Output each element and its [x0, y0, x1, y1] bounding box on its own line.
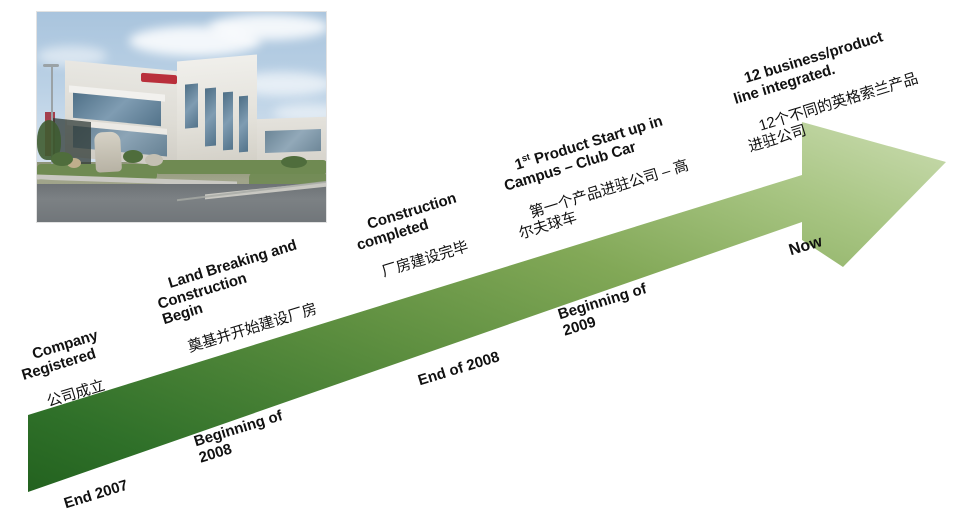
window-band [265, 129, 321, 153]
milestone-first-product-start-up: 1st Product Start up inCampus – Club Car… [492, 92, 701, 259]
milestone-land-breaking: Land Breaking andConstructionBegin 奠基并开始… [146, 221, 324, 377]
stone-sculpture [94, 131, 122, 172]
window-band [185, 83, 198, 128]
milestone-label-en: CompanyRegistered [20, 327, 100, 384]
window-band [223, 92, 233, 151]
bush-shape [123, 150, 143, 163]
milestone-label-cn: 厂房建设完毕 [380, 238, 470, 280]
milestone-construction-completed: Constructioncompleted 厂房建设完毕 [345, 174, 478, 302]
date-label-end-2007: End 2007 [62, 477, 130, 513]
slide-canvas: CompanyRegistered 公司成立 Land Breaking and… [0, 0, 960, 525]
cloud-shape [209, 14, 326, 40]
window-band [205, 88, 216, 147]
campus-photo [37, 12, 326, 222]
window-band [239, 96, 248, 153]
date-label-end-2008: End of 2008 [416, 348, 502, 389]
light-pole-arm [43, 64, 59, 67]
bush-shape [281, 156, 307, 168]
date-label-beginning-2009: Beginning of2009 [556, 280, 654, 340]
milestone-label-cn: 公司成立 [45, 377, 107, 411]
milestone-business-lines-integrated: 12 business/productline integrated. 12个不… [722, 7, 930, 173]
milestone-label-cn: 奠基并开始建设厂房 [186, 300, 319, 355]
rock-shape [145, 154, 163, 166]
bush-shape [51, 152, 73, 166]
date-label-now: Now [787, 233, 825, 260]
milestone-label-en: Constructioncompleted [355, 189, 459, 253]
date-label-beginning-2008: Beginning of2008 [192, 407, 290, 467]
milestone-company-registered: CompanyRegistered 公司成立 [10, 311, 120, 432]
